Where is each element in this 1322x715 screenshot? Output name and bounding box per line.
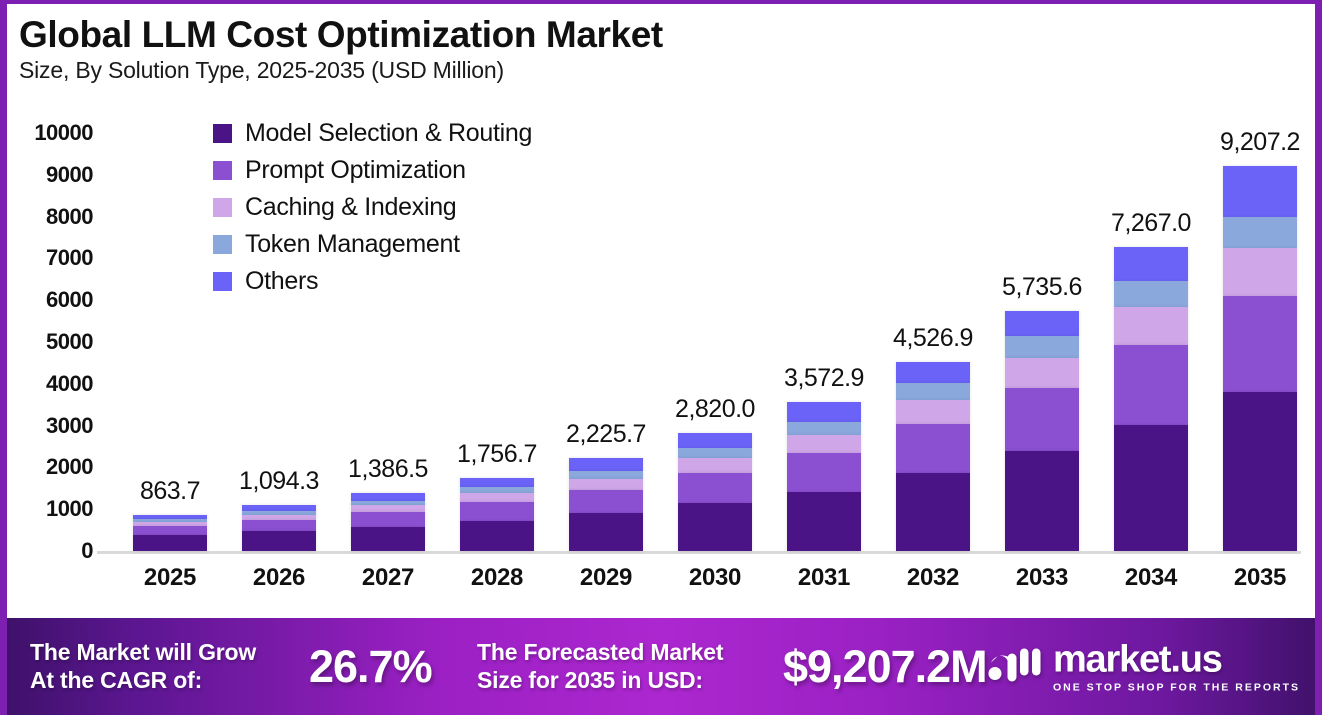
legend-item-label: Token Management bbox=[245, 230, 460, 259]
bar-segment[interactable] bbox=[1114, 247, 1188, 280]
bar-segment[interactable] bbox=[1223, 166, 1297, 216]
y-axis-tick: 3000 bbox=[7, 413, 93, 439]
bar-segment[interactable] bbox=[787, 453, 861, 492]
y-axis-tick: 9000 bbox=[7, 162, 93, 188]
y-axis-tick: 8000 bbox=[7, 204, 93, 230]
cagr-value: 26.7% bbox=[309, 641, 469, 693]
legend-item-label: Others bbox=[245, 267, 318, 296]
legend-square-icon bbox=[213, 272, 232, 291]
legend-square-icon bbox=[213, 161, 232, 180]
bar-segment[interactable] bbox=[569, 513, 643, 551]
y-axis-tick: 5000 bbox=[7, 329, 93, 355]
bar-segment[interactable] bbox=[1114, 307, 1188, 345]
title-block: Global LLM Cost Optimization Market Size… bbox=[19, 14, 1019, 84]
bar-stack[interactable]: 7,267.0 bbox=[1114, 247, 1188, 551]
bar-segment[interactable] bbox=[896, 400, 970, 424]
bar-segment[interactable] bbox=[460, 502, 534, 521]
x-axis-tick: 2028 bbox=[442, 564, 552, 592]
bar-stack[interactable]: 1,756.7 bbox=[460, 478, 534, 551]
legend-square-icon bbox=[213, 235, 232, 254]
y-axis-tick: 4000 bbox=[7, 371, 93, 397]
bar-stack[interactable]: 9,207.2 bbox=[1223, 166, 1297, 551]
legend-item[interactable]: Prompt Optimization bbox=[213, 152, 532, 189]
x-axis-tick: 2035 bbox=[1205, 564, 1315, 592]
bar-segment[interactable] bbox=[787, 435, 861, 453]
bar-segment[interactable] bbox=[460, 493, 534, 502]
bar-segment[interactable] bbox=[1223, 217, 1297, 248]
bar-segment[interactable] bbox=[460, 478, 534, 487]
x-axis-tick: 2029 bbox=[551, 564, 661, 592]
logo-text-block: market.us ONE STOP SHOP FOR THE REPORTS bbox=[1053, 640, 1300, 693]
legend-square-icon bbox=[213, 124, 232, 143]
y-axis-tick: 2000 bbox=[7, 454, 93, 480]
bar-segment[interactable] bbox=[896, 473, 970, 551]
bar-segment[interactable] bbox=[242, 531, 316, 551]
x-axis-tick: 2032 bbox=[878, 564, 988, 592]
bar-total-label: 9,207.2 bbox=[1220, 128, 1300, 157]
y-axis-tick: 6000 bbox=[7, 287, 93, 313]
cagr-caption: The Market will Grow At the CAGR of: bbox=[30, 639, 305, 693]
x-axis-tick: 2034 bbox=[1096, 564, 1206, 592]
bar-segment[interactable] bbox=[1005, 451, 1079, 551]
x-axis-tick: 2033 bbox=[987, 564, 1097, 592]
bar-segment[interactable] bbox=[569, 458, 643, 471]
bar-total-label: 7,267.0 bbox=[1111, 209, 1191, 238]
bar-segment[interactable] bbox=[1005, 388, 1079, 451]
bar-segment[interactable] bbox=[1005, 358, 1079, 389]
forecast-caption: The Forecasted Market Size for 2035 in U… bbox=[477, 639, 777, 693]
bar-segment[interactable] bbox=[678, 458, 752, 472]
axis-baseline bbox=[97, 551, 1301, 554]
forecast-value: $9,207.2M bbox=[783, 641, 987, 693]
forecast-caption-line2: Size for 2035 in USD: bbox=[477, 667, 777, 694]
bar-segment[interactable] bbox=[1005, 336, 1079, 357]
bar-stack[interactable]: 5,735.6 bbox=[1005, 311, 1079, 551]
bar-total-label: 1,094.3 bbox=[239, 467, 319, 496]
legend-item-label: Prompt Optimization bbox=[245, 156, 466, 185]
market-us-logo-icon bbox=[987, 642, 1043, 691]
bar-segment[interactable] bbox=[896, 362, 970, 383]
legend-item[interactable]: Model Selection & Routing bbox=[213, 115, 532, 152]
bar-segment[interactable] bbox=[896, 424, 970, 474]
page-subtitle: Size, By Solution Type, 2025-2035 (USD M… bbox=[19, 57, 1019, 84]
y-axis: 1000090008000700060005000400030002000100… bbox=[7, 116, 93, 554]
bar-segment[interactable] bbox=[678, 503, 752, 551]
bar-segment[interactable] bbox=[569, 479, 643, 490]
y-axis-tick: 1000 bbox=[7, 496, 93, 522]
bar-stack[interactable]: 863.7 bbox=[133, 515, 207, 551]
chart-plot-wrapper: 1000090008000700060005000400030002000100… bbox=[7, 116, 1315, 614]
footer-banner: The Market will Grow At the CAGR of: 26.… bbox=[0, 618, 1322, 715]
bar-segment[interactable] bbox=[351, 505, 425, 512]
legend-item-label: Caching & Indexing bbox=[245, 193, 456, 222]
cagr-caption-line1: The Market will Grow bbox=[30, 639, 305, 666]
bar-segment[interactable] bbox=[1005, 311, 1079, 336]
bar-segment[interactable] bbox=[896, 383, 970, 400]
chart-legend: Model Selection & RoutingPrompt Optimiza… bbox=[213, 115, 532, 300]
bar-segment[interactable] bbox=[787, 402, 861, 422]
bar-stack[interactable]: 2,820.0 bbox=[678, 433, 752, 551]
bar-segment[interactable] bbox=[787, 492, 861, 551]
legend-item-label: Model Selection & Routing bbox=[245, 119, 532, 148]
bar-segment[interactable] bbox=[678, 433, 752, 448]
bar-total-label: 2,820.0 bbox=[675, 395, 755, 424]
forecast-caption-line1: The Forecasted Market bbox=[477, 639, 777, 666]
bar-segment[interactable] bbox=[351, 493, 425, 501]
bar-segment[interactable] bbox=[460, 521, 534, 552]
bar-segment[interactable] bbox=[569, 490, 643, 514]
bar-segment[interactable] bbox=[133, 535, 207, 551]
bar-total-label: 5,735.6 bbox=[1002, 273, 1082, 302]
bar-segment[interactable] bbox=[787, 422, 861, 435]
bar-segment[interactable] bbox=[1223, 296, 1297, 392]
bar-stack[interactable]: 1,094.3 bbox=[242, 505, 316, 551]
bar-segment[interactable] bbox=[1114, 345, 1188, 424]
bar-stack[interactable]: 1,386.5 bbox=[351, 493, 425, 551]
bar-segment[interactable] bbox=[1114, 425, 1188, 551]
legend-item[interactable]: Caching & Indexing bbox=[213, 189, 532, 226]
y-axis-tick: 7000 bbox=[7, 245, 93, 271]
x-axis-tick: 2027 bbox=[333, 564, 443, 592]
x-axis-tick: 2031 bbox=[769, 564, 879, 592]
x-axis-tick: 2030 bbox=[660, 564, 770, 592]
bar-stack[interactable]: 3,572.9 bbox=[787, 402, 861, 551]
bar-segment[interactable] bbox=[678, 448, 752, 458]
logo-tagline: ONE STOP SHOP FOR THE REPORTS bbox=[1053, 681, 1300, 693]
bar-segment[interactable] bbox=[351, 512, 425, 527]
x-axis-tick: 2025 bbox=[115, 564, 225, 592]
bar-total-label: 863.7 bbox=[140, 477, 200, 506]
logo-wordmark: market.us bbox=[1053, 640, 1300, 678]
page-title: Global LLM Cost Optimization Market bbox=[19, 14, 1019, 55]
bar-segment[interactable] bbox=[133, 526, 207, 535]
bar-total-label: 1,756.7 bbox=[457, 440, 537, 469]
cagr-caption-line2: At the CAGR of: bbox=[30, 667, 305, 694]
bar-segment[interactable] bbox=[1114, 281, 1188, 308]
bar-segment[interactable] bbox=[678, 473, 752, 504]
bar-total-label: 4,526.9 bbox=[893, 324, 973, 353]
x-axis-tick: 2026 bbox=[224, 564, 334, 592]
market-us-logo[interactable]: market.us ONE STOP SHOP FOR THE REPORTS bbox=[987, 640, 1300, 693]
bar-total-label: 3,572.9 bbox=[784, 364, 864, 393]
x-axis: 2025202620272028202920302031203220332034… bbox=[97, 564, 1301, 604]
bar-segment[interactable] bbox=[1223, 392, 1297, 551]
y-axis-tick: 10000 bbox=[7, 120, 93, 146]
infographic-frame: Global LLM Cost Optimization Market Size… bbox=[0, 0, 1322, 715]
bar-stack[interactable]: 2,225.7 bbox=[569, 458, 643, 551]
legend-square-icon bbox=[213, 198, 232, 217]
bar-segment[interactable] bbox=[351, 527, 425, 551]
bar-stack[interactable]: 4,526.9 bbox=[896, 362, 970, 551]
legend-item[interactable]: Token Management bbox=[213, 226, 532, 263]
bar-segment[interactable] bbox=[242, 520, 316, 531]
bar-total-label: 2,225.7 bbox=[566, 420, 646, 449]
legend-item[interactable]: Others bbox=[213, 263, 532, 300]
y-axis-tick: 0 bbox=[7, 538, 93, 564]
bar-segment[interactable] bbox=[569, 471, 643, 479]
bar-segment[interactable] bbox=[1223, 248, 1297, 296]
bar-total-label: 1,386.5 bbox=[348, 455, 428, 484]
